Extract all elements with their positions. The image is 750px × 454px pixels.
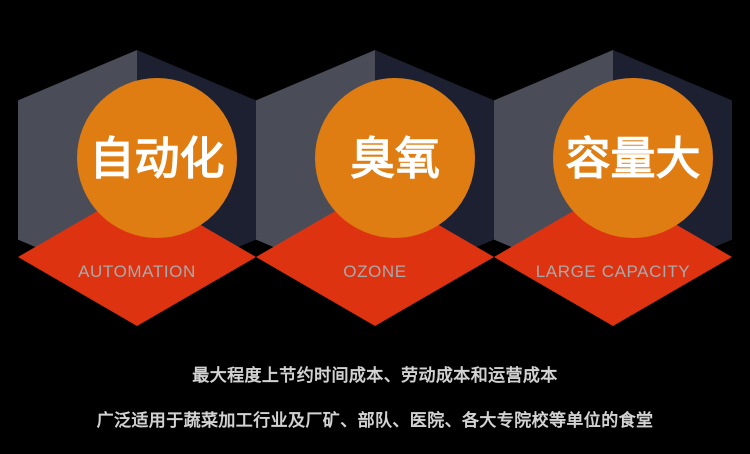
feature-card-large-capacity[interactable]: 容量大 LARGE CAPACITY — [494, 50, 732, 325]
summary-line-1: 最大程度上节约时间成本、劳动成本和运营成本 — [0, 361, 750, 386]
feature-card-ozone[interactable]: 臭氧 OZONE — [256, 50, 494, 325]
feature-title-cn: 自动化 — [89, 136, 224, 181]
orange-circle-badge: 容量大 — [553, 78, 713, 238]
feature-title-en: OZONE — [256, 262, 494, 282]
feature-card-automation[interactable]: 自动化 AUTOMATION — [18, 50, 256, 325]
summary-line-2: 广泛适用于蔬菜加工行业及厂矿、部队、医院、各大专院校等单位的食堂 — [0, 406, 750, 431]
feature-title-cn: 容量大 — [565, 136, 700, 181]
orange-circle-badge: 自动化 — [77, 78, 237, 238]
orange-circle-badge: 臭氧 — [315, 78, 475, 238]
feature-title-cn: 臭氧 — [350, 136, 440, 181]
feature-title-en: AUTOMATION — [18, 262, 256, 282]
promo-banner: 自动化 AUTOMATION 臭氧 OZONE 容量大 — [0, 0, 750, 454]
feature-title-en: LARGE CAPACITY — [494, 262, 732, 282]
feature-hexagon-row: 自动化 AUTOMATION 臭氧 OZONE 容量大 — [0, 0, 750, 340]
